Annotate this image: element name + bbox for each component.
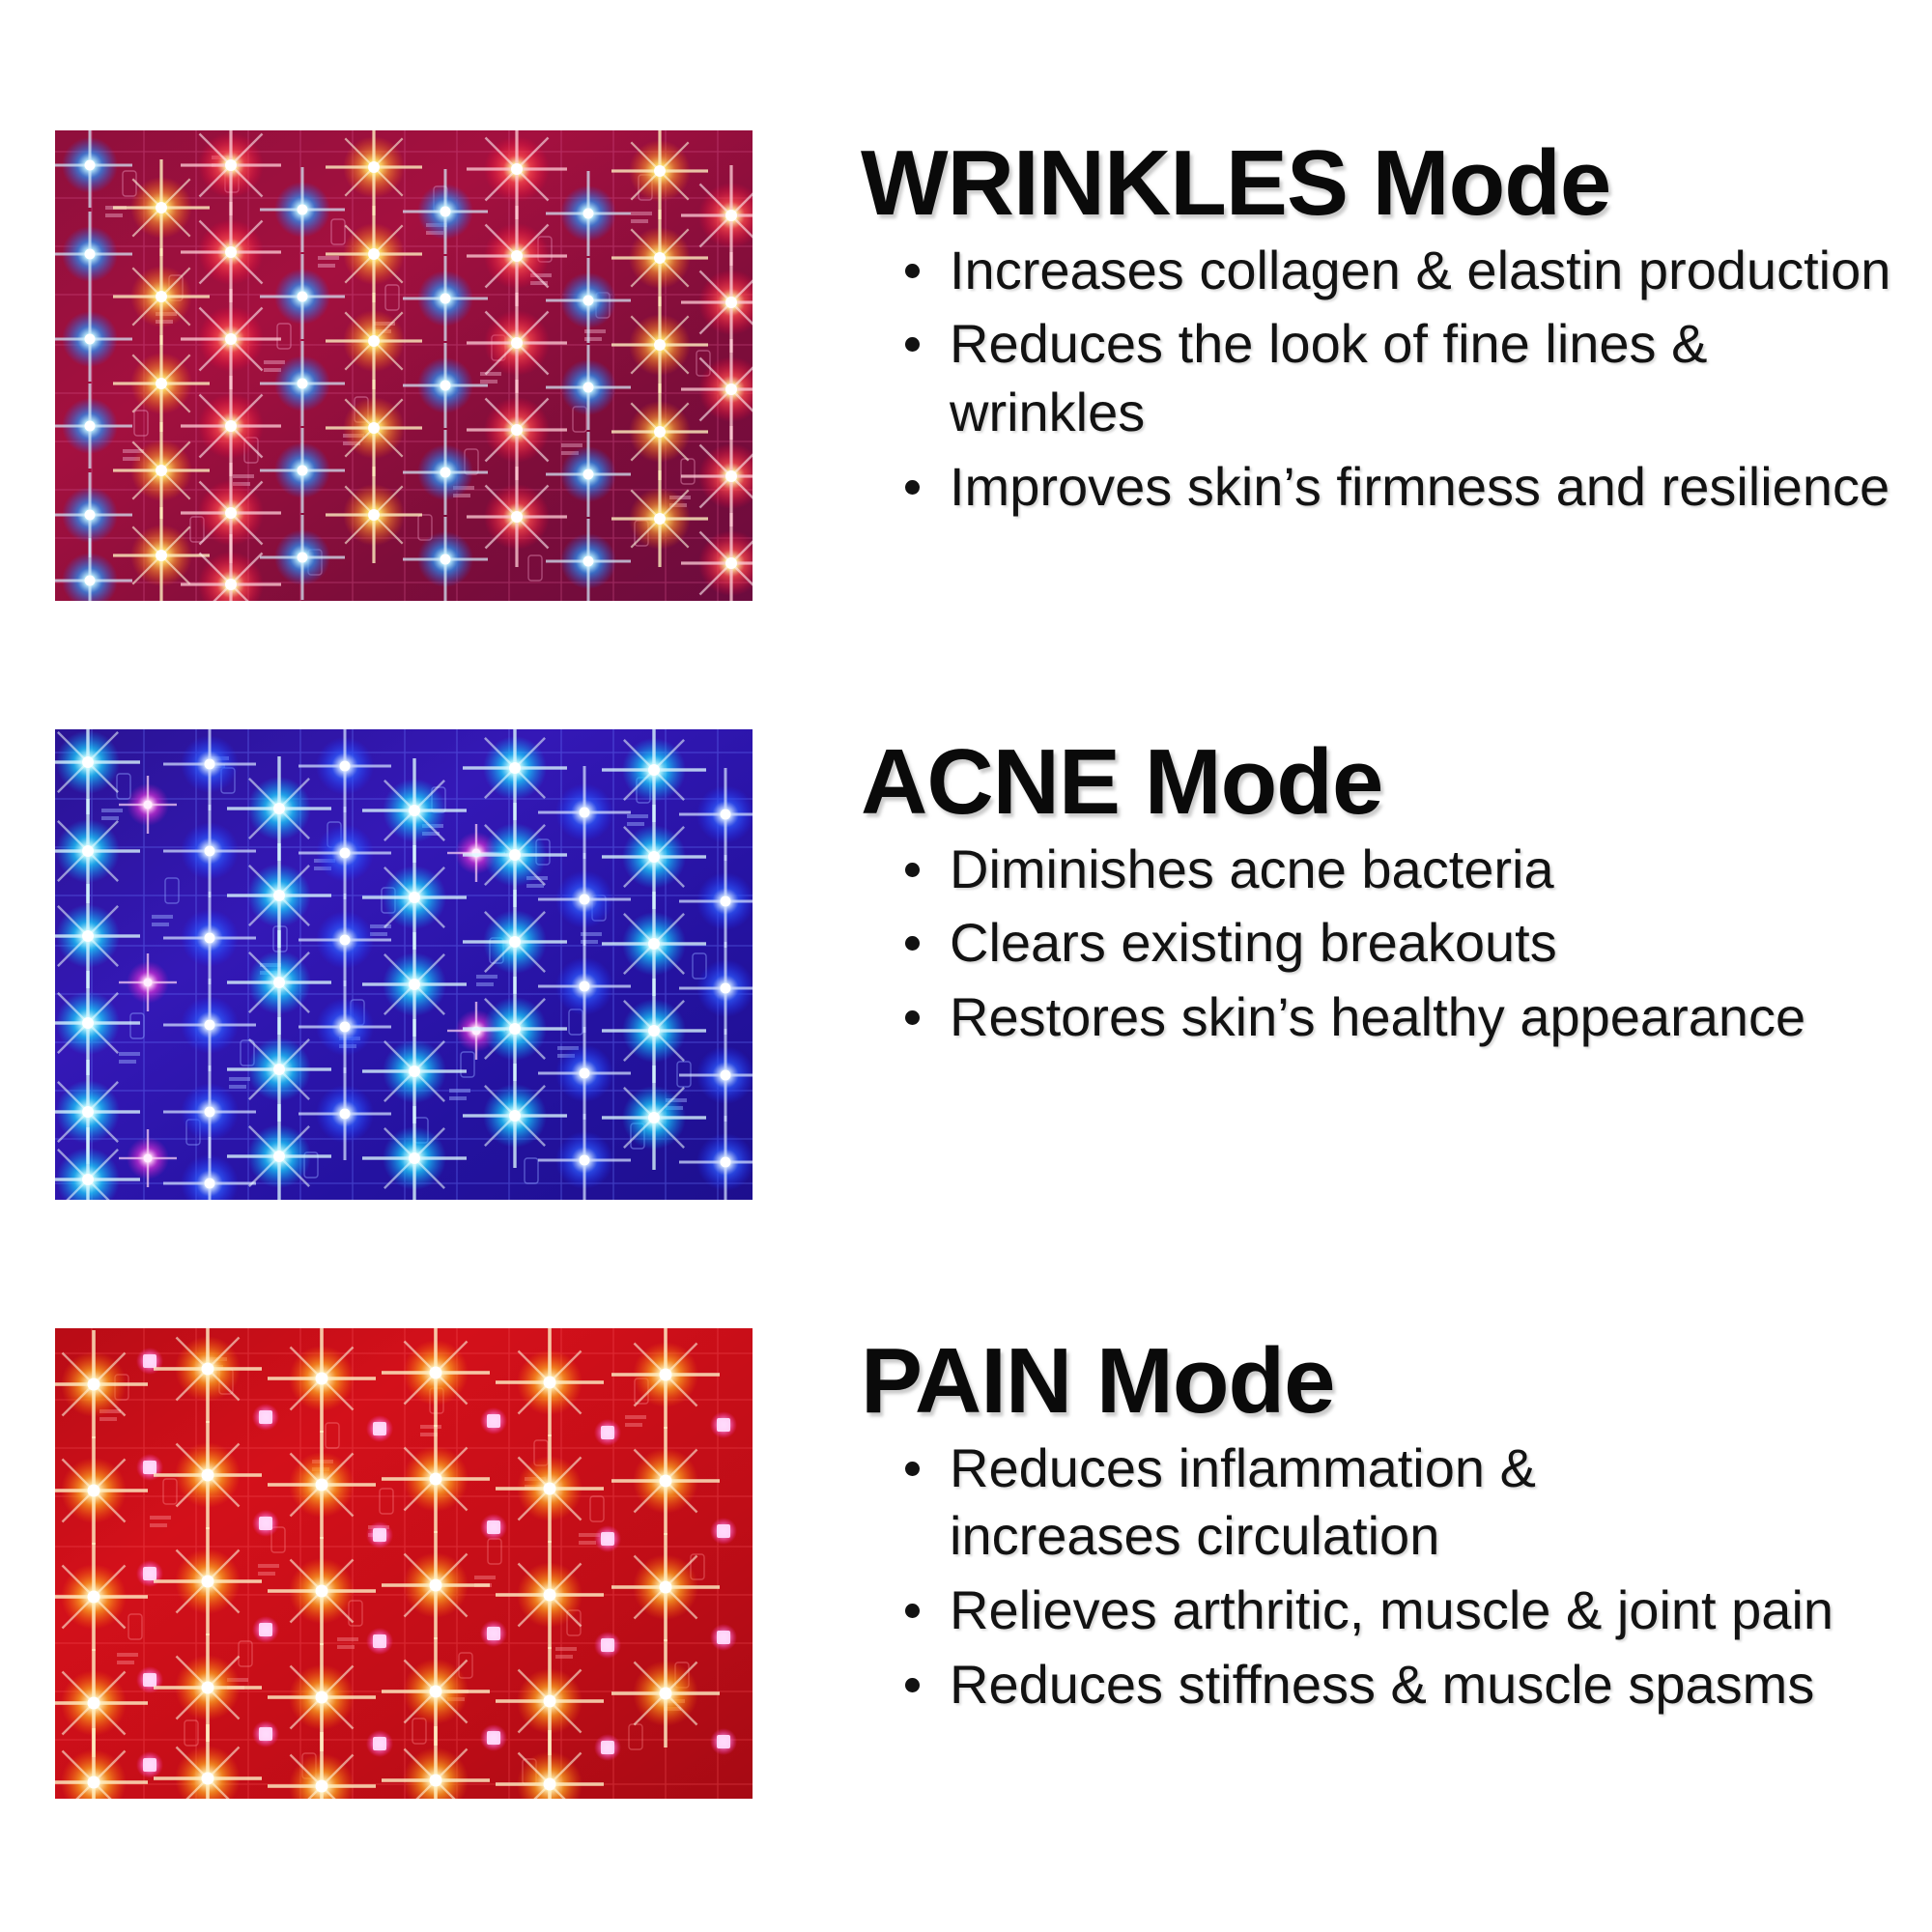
led-panel-acne-art (55, 729, 753, 1200)
bullet-dot-icon (905, 1678, 920, 1692)
led-panel-acne-image (55, 729, 753, 1200)
bullet-dot-icon (905, 480, 920, 495)
mode-section-pain: PAIN Mode Reduces inflammation & increas… (55, 1328, 1833, 1799)
mode-heading-acne: ACNE Mode (861, 735, 1805, 830)
benefit-item: Relieves arthritic, muscle & joint pain (905, 1577, 1833, 1645)
bullet-dot-icon (905, 936, 920, 951)
benefit-list-wrinkles: Increases collagen & elastin production … (861, 237, 1896, 521)
benefit-text: Diminishes acne bacteria (950, 838, 1554, 899)
benefit-text: Restores skin’s healthy appearance (950, 986, 1805, 1047)
led-panel-wrinkles-art (55, 130, 753, 601)
led-panel-pain-art (55, 1328, 753, 1799)
mode-section-wrinkles: WRINKLES Mode Increases collagen & elast… (55, 130, 1896, 601)
bullet-dot-icon (905, 1010, 920, 1025)
mode-heading-pain: PAIN Mode (861, 1334, 1833, 1429)
benefit-item: Increases collagen & elastin production (905, 237, 1896, 305)
benefit-list-pain: Reduces inflammation & increases circula… (861, 1435, 1833, 1719)
mode-text-pain: PAIN Mode Reduces inflammation & increas… (753, 1328, 1833, 1724)
bullet-dot-icon (905, 1604, 920, 1618)
bullet-dot-icon (905, 337, 920, 352)
mode-text-wrinkles: WRINKLES Mode Increases collagen & elast… (753, 130, 1896, 526)
benefit-text: Reduces inflammation & increases circula… (950, 1437, 1536, 1567)
benefit-list-acne: Diminishes acne bacteria Clears existing… (861, 836, 1805, 1052)
led-panel-wrinkles-image (55, 130, 753, 601)
benefit-text: Increases collagen & elastin production (950, 240, 1890, 300)
led-panel-pain-image (55, 1328, 753, 1799)
benefit-item: Reduces stiffness & muscle spasms (905, 1651, 1833, 1719)
benefit-text: Clears existing breakouts (950, 912, 1557, 973)
benefit-text: Improves skin’s firmness and resilience (950, 456, 1889, 517)
bullet-dot-icon (905, 264, 920, 278)
mode-section-acne: ACNE Mode Diminishes acne bacteria Clear… (55, 729, 1805, 1200)
benefit-item: Clears existing breakouts (905, 909, 1805, 978)
benefit-item: Reduces inflammation & increases circula… (905, 1435, 1742, 1571)
mode-text-acne: ACNE Mode Diminishes acne bacteria Clear… (753, 729, 1805, 1058)
infographic-page: WRINKLES Mode Increases collagen & elast… (0, 0, 1932, 1932)
bullet-dot-icon (905, 1462, 920, 1476)
mode-heading-wrinkles: WRINKLES Mode (861, 136, 1896, 231)
benefit-text: Reduces stiffness & muscle spasms (950, 1654, 1814, 1715)
benefit-text: Reduces the look of fine lines & wrinkle… (950, 313, 1707, 442)
benefit-item: Reduces the look of fine lines & wrinkle… (905, 310, 1896, 446)
bullet-dot-icon (905, 863, 920, 877)
benefit-text: Relieves arthritic, muscle & joint pain (950, 1579, 1833, 1640)
benefit-item: Improves skin’s firmness and resilience (905, 453, 1896, 522)
benefit-item: Diminishes acne bacteria (905, 836, 1805, 904)
benefit-item: Restores skin’s healthy appearance (905, 983, 1805, 1052)
